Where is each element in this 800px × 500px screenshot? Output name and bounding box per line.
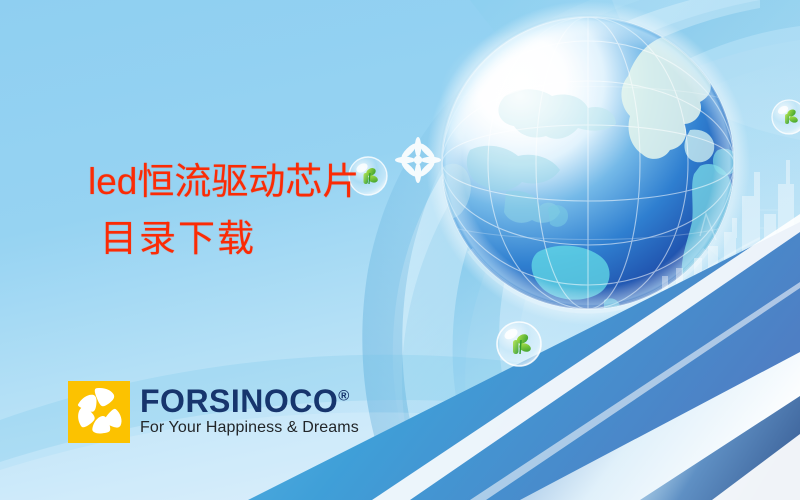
slide-canvas: led恒流驱动芯片 目录下载 FORSINOCO® For Your Happi… (0, 0, 800, 500)
bubble-with-green-sprout-left (349, 157, 387, 195)
bubble-with-green-sprout-right (772, 100, 800, 134)
bubble-with-green-sprout-bottom (497, 322, 541, 366)
four-petal-flower-icon (68, 381, 130, 443)
brand-name: FORSINOCO® (140, 385, 359, 417)
company-logo: FORSINOCO® For Your Happiness & Dreams (68, 381, 359, 443)
registered-trademark-icon: ® (338, 387, 350, 404)
brand-tagline: For Your Happiness & Dreams (140, 420, 359, 436)
logo-wordmark: FORSINOCO® For Your Happiness & Dreams (140, 381, 359, 436)
brand-name-text: FORSINOCO (140, 383, 338, 419)
